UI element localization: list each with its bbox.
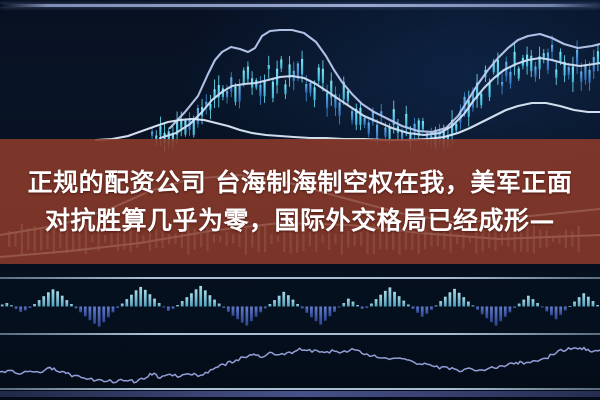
headline-overlay-band: 正规的配资公司 台海制海制空权在我，美军正面 对抗胜算几乎为零，国际外交格局已经…: [0, 139, 600, 264]
bottom-glow-bar: [0, 391, 600, 397]
top-divider-rule: [0, 4, 600, 7]
trend-line-series: [0, 347, 600, 382]
headline-line-1: 正规的配资公司 台海制海制空权在我，美军正面: [28, 164, 573, 202]
price-band-lines: [96, 30, 600, 140]
panel-divider-lower: [0, 388, 600, 390]
panel-divider-middle: [0, 333, 600, 335]
panel-divider-upper: [0, 277, 600, 279]
screenshot-root: 正规的配资公司 台海制海制空权在我，美军正面 对抗胜算几乎为零，国际外交格局已经…: [0, 0, 600, 400]
headline-line-2: 对抗胜算几乎为零，国际外交格局已经成形—: [45, 202, 555, 240]
oscillator-histogram: [1, 286, 599, 327]
